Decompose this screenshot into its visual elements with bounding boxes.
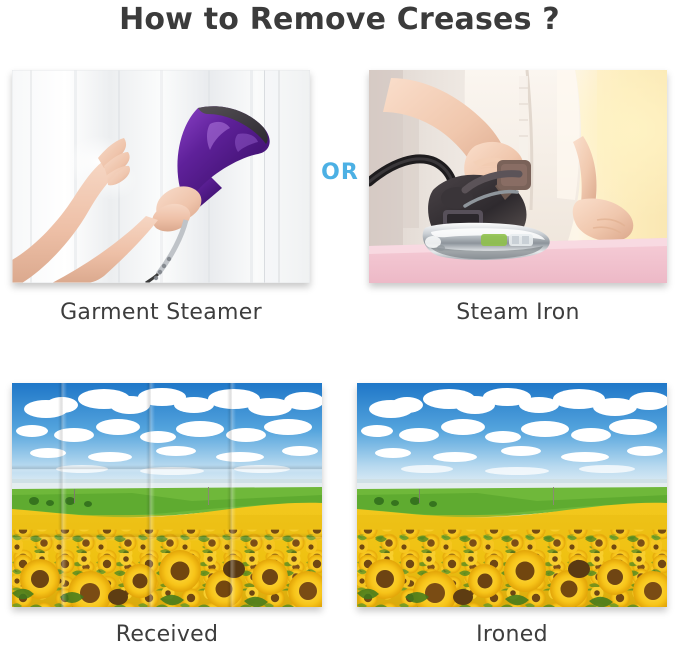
steam-iron-photo bbox=[369, 70, 667, 283]
received-backdrop-photo bbox=[12, 383, 322, 607]
or-separator-label: OR bbox=[310, 160, 370, 185]
garment-steamer-caption: Garment Steamer bbox=[12, 300, 310, 325]
steam-iron-caption: Steam Iron bbox=[369, 300, 667, 325]
steam-iron-illustration bbox=[369, 70, 667, 283]
received-caption: Received bbox=[12, 622, 322, 647]
ironed-backdrop-photo bbox=[357, 383, 667, 607]
sunflower-field-creased-illustration bbox=[12, 383, 322, 607]
garment-steamer-illustration bbox=[12, 70, 310, 283]
sunflower-field-smooth-illustration bbox=[357, 383, 667, 607]
ironed-caption: Ironed bbox=[357, 622, 667, 647]
page-title: How to Remove Creases ? bbox=[0, 2, 679, 37]
infographic-page: How to Remove Creases ? bbox=[0, 0, 679, 651]
garment-steamer-photo bbox=[12, 70, 310, 283]
